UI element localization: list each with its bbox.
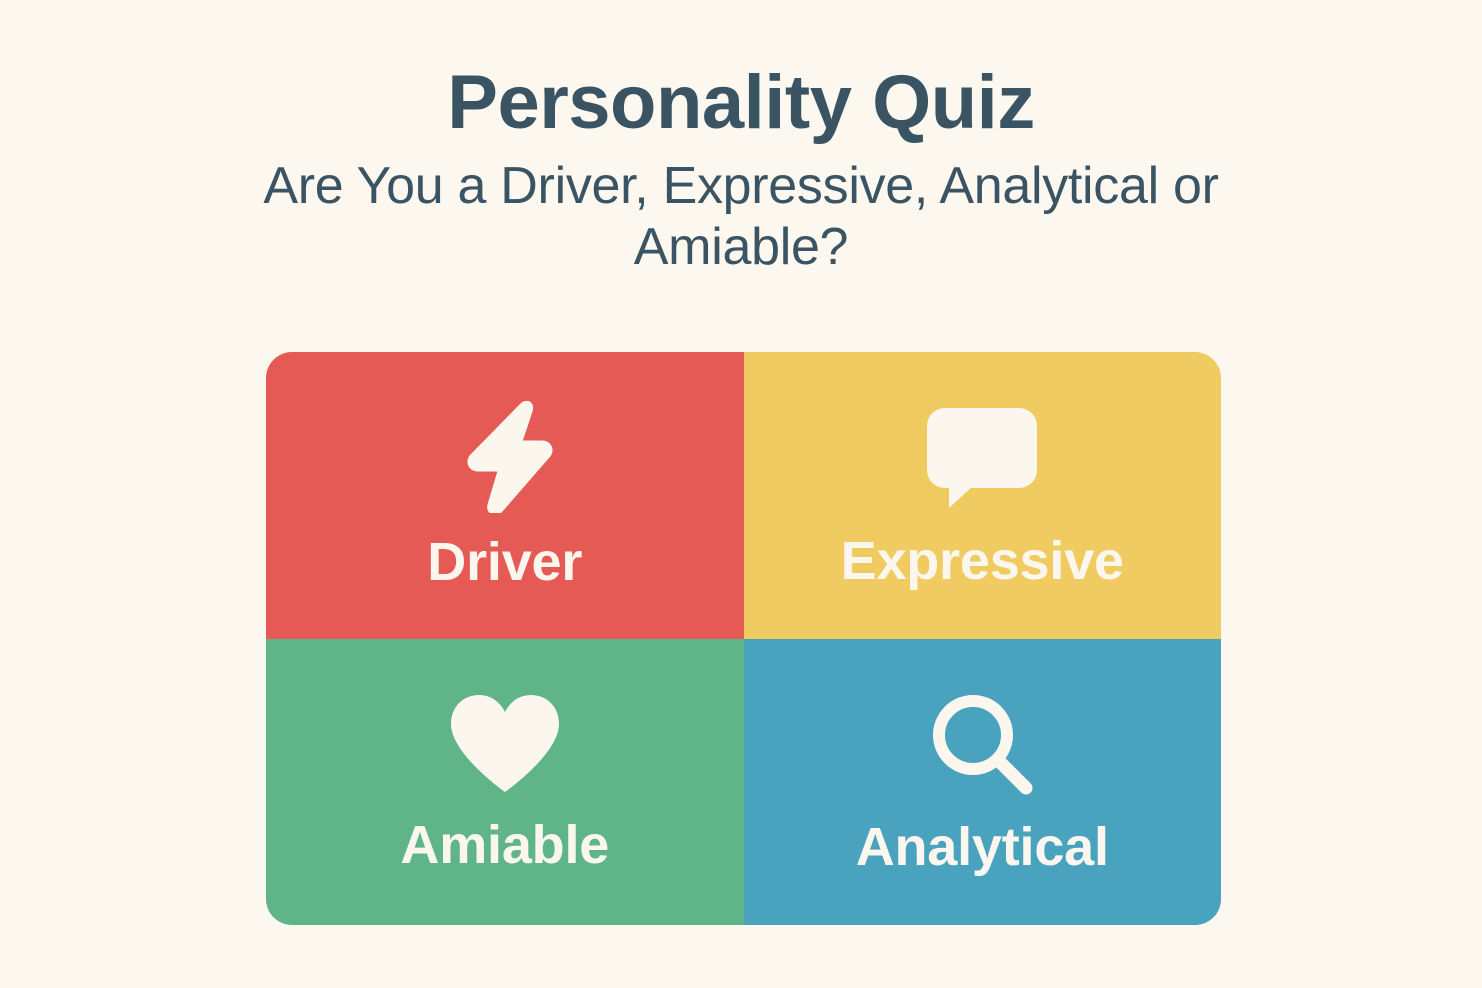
page-subtitle: Are You a Driver, Expressive, Analytical… xyxy=(151,156,1331,279)
personality-quiz-page: Personality Quiz Are You a Driver, Expre… xyxy=(0,0,1482,988)
quadrant-amiable[interactable]: Amiable xyxy=(266,639,744,926)
personality-quadrant-grid: Driver Expressive Amiable xyxy=(266,352,1221,925)
speech-bubble-icon xyxy=(921,402,1043,514)
lightning-bolt-icon xyxy=(457,401,553,513)
magnifying-glass-icon xyxy=(928,690,1036,798)
quadrant-label-analytical: Analytical xyxy=(856,820,1109,874)
quadrant-label-amiable: Amiable xyxy=(400,818,609,872)
page-title: Personality Quiz xyxy=(0,64,1482,142)
quadrant-analytical[interactable]: Analytical xyxy=(744,639,1222,926)
quadrant-label-expressive: Expressive xyxy=(841,534,1124,588)
quadrant-driver[interactable]: Driver xyxy=(266,352,744,639)
page-header: Personality Quiz Are You a Driver, Expre… xyxy=(0,64,1482,278)
quadrant-label-driver: Driver xyxy=(427,535,582,589)
heart-icon xyxy=(445,692,565,796)
quadrant-expressive[interactable]: Expressive xyxy=(744,352,1222,639)
